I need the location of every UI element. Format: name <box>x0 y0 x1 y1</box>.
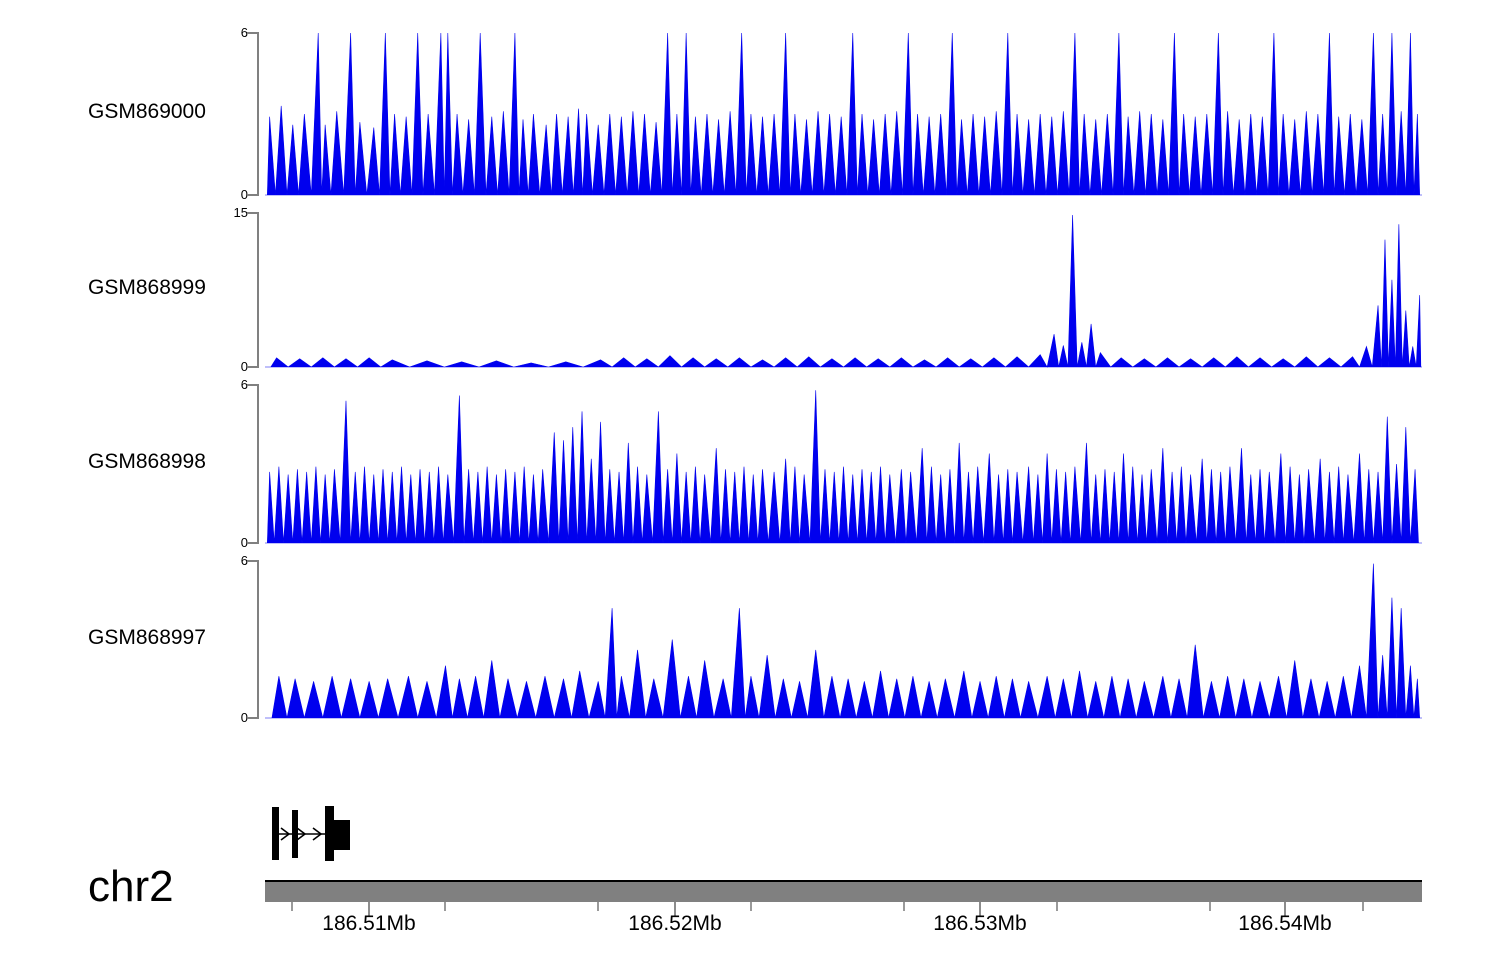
y-axis-GSM869000 <box>243 31 265 197</box>
track-label-GSM868998: GSM868998 <box>88 450 206 474</box>
gene-model-track[interactable] <box>0 795 1500 885</box>
coverage-track-GSM868999[interactable] <box>265 213 1422 368</box>
coverage-track-GSM869000[interactable] <box>265 33 1422 196</box>
coverage-track-GSM868998[interactable] <box>265 385 1422 544</box>
genome-browser-view: GSM86900060GSM868999150GSM86899860GSM868… <box>0 0 1500 980</box>
track-label-GSM868997: GSM868997 <box>88 626 206 650</box>
coverage-track-GSM868997[interactable] <box>265 561 1422 719</box>
axis-tick-label-2: 186.53Mb <box>900 912 1060 936</box>
track-label-GSM868999: GSM868999 <box>88 276 206 300</box>
axis-tick-label-0: 186.51Mb <box>289 912 449 936</box>
axis-tick-label-1: 186.52Mb <box>595 912 755 936</box>
axis-tick-label-3: 186.54Mb <box>1205 912 1365 936</box>
y-axis-GSM868997 <box>243 559 265 720</box>
y-axis-GSM868999 <box>243 211 265 369</box>
y-axis-GSM868998 <box>243 383 265 545</box>
track-label-GSM869000: GSM869000 <box>88 100 206 124</box>
chromosome-ideogram-bar[interactable] <box>265 880 1422 902</box>
